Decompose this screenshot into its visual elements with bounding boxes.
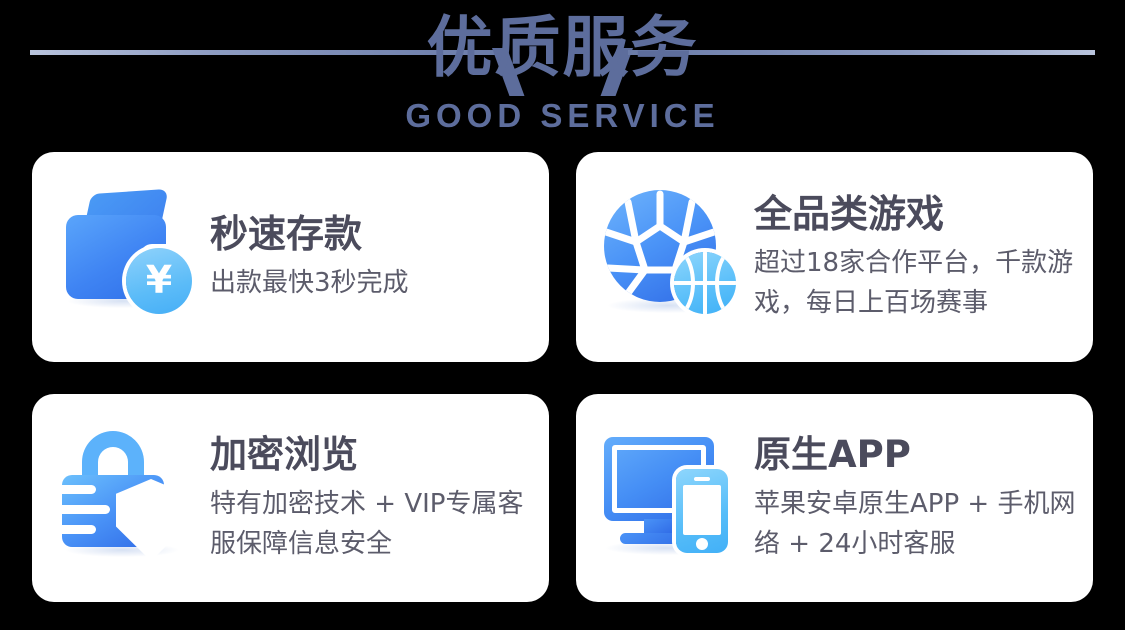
card-subtitle: 超过18家合作平台，千款游戏，每日上百场赛事 [754, 243, 1079, 323]
feature-card-deposit[interactable]: ¥ 秒速存款 出款最快3秒完成 [32, 152, 549, 362]
soccer-basketball-icon [598, 182, 748, 332]
card-subtitle: 出款最快3秒完成 [210, 263, 535, 303]
card-title: 原生APP [754, 432, 1079, 478]
card-title: 全品类游戏 [754, 191, 1079, 237]
service-banner: 优质服务 GOOD SERVICE ¥ 秒速存款 出款最快3秒完成 [0, 0, 1125, 630]
feature-card-native-app[interactable]: 原生APP 苹果安卓原生APP + 手机网络 + 24小时客服 [576, 394, 1093, 602]
page-title: 优质服务 [0, 8, 1125, 88]
feature-card-grid: ¥ 秒速存款 出款最快3秒完成 [32, 152, 1093, 602]
yen-symbol: ¥ [146, 261, 172, 299]
lock-stripe [54, 505, 110, 514]
card-text-block: 加密浏览 特有加密技术 + VIP专属客服保障信息安全 [210, 432, 549, 564]
feature-card-games[interactable]: 全品类游戏 超过18家合作平台，千款游戏，每日上百场赛事 [576, 152, 1093, 362]
phone-screen [683, 485, 721, 535]
wallet-yen-icon: ¥ [54, 182, 204, 332]
card-subtitle: 特有加密技术 + VIP专属客服保障信息安全 [210, 484, 535, 564]
lock-shield-icon [54, 423, 204, 573]
banner-header: 优质服务 GOOD SERVICE [0, 0, 1125, 150]
phone-speaker [694, 477, 710, 481]
basketball-icon [674, 252, 736, 314]
yen-coin-icon: ¥ [126, 248, 192, 314]
phone-home-button [696, 538, 708, 550]
cross-vertical [144, 499, 157, 537]
card-title: 加密浏览 [210, 432, 535, 478]
card-text-block: 原生APP 苹果安卓原生APP + 手机网络 + 24小时客服 [754, 432, 1093, 564]
monitor-phone-icon [598, 423, 748, 573]
feature-card-encryption[interactable]: 加密浏览 特有加密技术 + VIP专属客服保障信息安全 [32, 394, 549, 602]
card-subtitle: 苹果安卓原生APP + 手机网络 + 24小时客服 [754, 484, 1079, 564]
smartphone-icon [676, 469, 728, 553]
card-title: 秒速存款 [210, 211, 535, 257]
lock-stripe [54, 525, 96, 534]
lock-stripe [54, 485, 96, 494]
card-text-block: 全品类游戏 超过18家合作平台，千款游戏，每日上百场赛事 [754, 191, 1093, 323]
card-text-block: 秒速存款 出款最快3秒完成 [210, 211, 549, 303]
page-subtitle: GOOD SERVICE [0, 97, 1125, 135]
